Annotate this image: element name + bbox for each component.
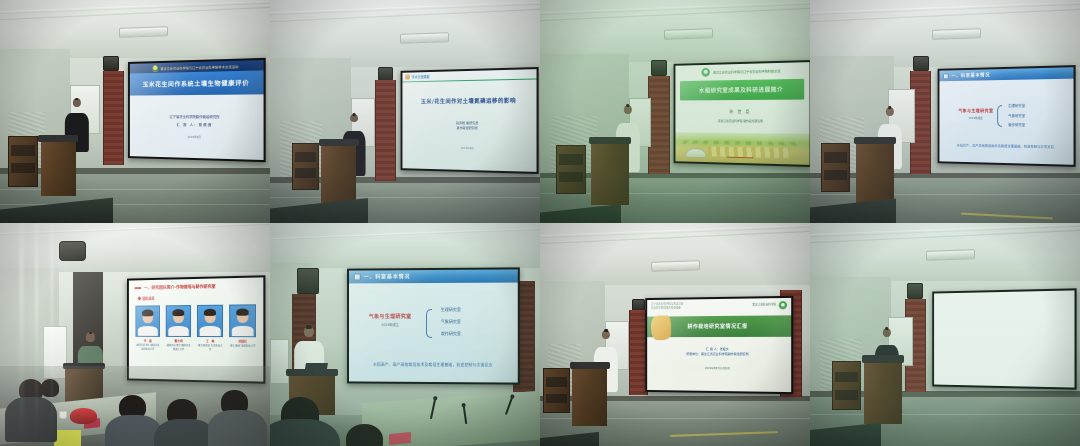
ceiling	[270, 223, 540, 268]
ceiling-speaker	[913, 56, 929, 72]
ceiling-beam	[270, 228, 540, 241]
slide-content: 黑龙江省农业科学院与辽宁省农业科学院科技交流 水稻研究室成果及科研进展简介 孙 …	[675, 63, 810, 165]
slide-presenter: 汇 报 人：蔡倩倩	[177, 123, 213, 128]
name-placard	[389, 432, 411, 445]
screen-glare	[934, 290, 1074, 387]
slide-date: 2019年8月5日 哈尔滨	[647, 365, 791, 370]
podium	[856, 138, 894, 205]
bullet-marker-icon	[405, 75, 410, 80]
slide-title: 玉米研究室	[934, 290, 1074, 293]
member-name: 李 磊	[136, 338, 161, 342]
meeting-room-scene: 黑龙江省农业科学院与辽宁省农业科学院科技交流 水稻研究室成果及科研进展简介 孙 …	[540, 0, 810, 223]
meeting-room-scene: 黑龙江省农业科学院与辽宁省农业科学院学术交流活动 玉米花生间作系统土壤生物健康评…	[0, 0, 270, 223]
water-cup	[59, 411, 67, 419]
slide-subheader: 团队成员	[138, 293, 264, 300]
side-cabinet	[543, 368, 570, 413]
leaf-emblem-icon	[778, 301, 786, 309]
team-member-card: 刘国红 博士/助研 沈阳农业大学	[230, 304, 257, 351]
laptop	[304, 363, 328, 374]
wood-acoustic-strip	[375, 80, 395, 180]
meeting-room-scene: 学术交流简报 玉米/花生间作对土壤氮磷运移的影响 赵凤艳 副研究员 耕作栽培研究…	[270, 0, 540, 223]
podium	[41, 136, 76, 196]
team-member-row: 李 磊 副研究员 博士/副研究员 沈阳农业大学 董大明 副研究员 博士/副研究员…	[129, 304, 264, 352]
member-detail: 博士/研究员 东北农业大学	[197, 344, 223, 351]
ceiling-light-fixture	[119, 26, 168, 38]
side-cabinet	[832, 361, 862, 410]
podium	[321, 140, 356, 202]
slide-title: 玉米花生间作系统土壤生物健康评价	[130, 71, 264, 96]
ceiling-speaker	[651, 60, 667, 76]
slide-header-text: 一、科室基本情况	[363, 273, 410, 280]
slide-content: 一、科室基本情况 气象与生理研究室 2019年成立 生理研究室 气象研究室	[349, 269, 518, 382]
farm-building-icon	[726, 153, 754, 158]
institute-emblem-icon	[152, 65, 159, 72]
subheader-text: 团队成员	[143, 295, 155, 300]
ceiling-light-fixture	[664, 28, 713, 40]
lens-flare	[51, 223, 53, 446]
list-item: 栽作研究室	[1008, 122, 1025, 127]
projection-screen: 一、科室基本情况 气象与生理研究室 2019年成立 生理研究室 气象研究室	[347, 267, 520, 384]
ceiling	[540, 223, 810, 285]
lens-flare	[35, 223, 38, 446]
member-headshot	[166, 305, 191, 337]
field-photo-graphic	[675, 133, 810, 165]
slide-content: 黑龙江省农业科学院与辽宁省农业科学院学术交流活动 玉米花生间作系统土壤生物健康评…	[130, 60, 264, 160]
slide-header: 一、研究团队简介-作物栽培与耕作研究室	[129, 277, 264, 291]
photo-panel-4[interactable]: 一、科室基本情况 气象与生理研究室 2019年成立 生理研究室 气象研究室	[810, 0, 1080, 223]
photo-panel-8[interactable]: 玉米研究室 汇报人：蔡 玉 进 单 位：玉米研究室 2019年8月5日	[810, 223, 1080, 446]
ceiling-projector	[59, 241, 86, 261]
leaf-emblem-icon	[701, 68, 710, 77]
slide-header-text: 黑龙江省农业科学院与辽宁省农业科学院学术交流活动	[161, 63, 239, 70]
side-cabinet	[8, 136, 38, 187]
member-headshot	[136, 305, 161, 336]
slide-presenter: 汇报人：蔡 玉 进 单 位：玉米研究室	[934, 290, 1074, 293]
slide-title: 水稻研究室成果及科研进展简介	[680, 79, 805, 101]
list-item: 栽作研究室	[440, 330, 460, 336]
whiteboard	[270, 339, 289, 384]
slide-content: 一、科室基本情况 气象与生理研究室 2019年成立 生理研究室 气象研究室	[940, 67, 1075, 165]
member-headshot	[230, 304, 257, 337]
photo-panel-6[interactable]: 一、科室基本情况 气象与生理研究室 2019年成立 生理研究室 气象研究室	[270, 223, 540, 446]
side-cabinet	[821, 143, 851, 192]
brace-bracket-icon	[425, 308, 431, 338]
highlight-text: 气象与生理研究室	[959, 108, 994, 113]
slide-content: 学术交流简报 玉米/花生间作对土壤氮磷运移的影响 赵凤艳 副研究员 耕作栽培研究…	[402, 69, 537, 171]
photo-panel-7[interactable]: 辽宁省农业科学院与黑龙江省 农业科学院科技合作交流会 黑龙江省农业科学院 耕作栽…	[540, 223, 810, 446]
member-detail: 博士/助研 沈阳农业大学	[230, 344, 257, 348]
audience-member-body	[208, 410, 267, 446]
highlight-subtext: 2019年成立	[368, 321, 411, 326]
slide-org-line: 黑龙江省农业科学院与辽宁省农业科学院科技交流	[675, 63, 810, 78]
photo-panel-1[interactable]: 黑龙江省农业科学院与辽宁省农业科学院学术交流活动 玉米花生间作系统土壤生物健康评…	[0, 0, 270, 223]
slide-header-text: 学术交流简报	[412, 74, 430, 79]
meeting-room-scene: 一、研究团队简介-作物栽培与耕作研究室 团队成员 李 磊 副研究员 博士/副研究…	[0, 223, 270, 446]
institute-emblem-icon	[969, 292, 979, 293]
title-card	[963, 291, 1041, 293]
ceiling-beam	[0, 223, 270, 236]
list-item: 生理研究室	[1008, 103, 1025, 108]
wall-speaker	[297, 268, 319, 295]
slide-body: 气象与生理研究室 2019年成立 生理研究室 气象研究室 栽作研究室 水稻高产、…	[349, 282, 518, 382]
lens-flare	[19, 223, 24, 446]
slide-item-list: 生理研究室 气象研究室 栽作研究室	[440, 306, 460, 336]
highlight-text: 气象与生理研究室	[368, 313, 411, 319]
slide-date: 2019年8月	[188, 135, 201, 139]
section-marker-icon	[353, 273, 360, 280]
fruit-plate	[70, 408, 97, 424]
slide-header-text: 一、科室基本情况	[952, 72, 991, 79]
projection-screen: 玉米研究室 汇报人：蔡 玉 进 单 位：玉米研究室 2019年8月5日	[932, 288, 1076, 390]
map-graphic	[651, 315, 670, 340]
wood-acoustic-strip	[648, 76, 670, 174]
member-detail: 副研究员 博士/副研究员 沈阳农业大学	[136, 343, 161, 350]
ceiling-speaker	[907, 283, 923, 299]
slide-header: 一、科室基本情况	[349, 269, 518, 283]
slide-org: 辽宁省农业科学院耕作栽培研究所	[170, 114, 220, 119]
meeting-room-scene: 一、科室基本情况 气象与生理研究室 2019年成立 生理研究室 气象研究室	[270, 223, 540, 446]
ceiling-light-fixture	[932, 28, 981, 40]
projection-screen: 学术交流简报 玉米/花生间作对土壤氮磷运移的影响 赵凤艳 副研究员 耕作栽培研究…	[400, 67, 538, 174]
slide-org-right: 黑龙江省农业科学院	[752, 303, 776, 307]
list-item: 气象研究室	[1008, 113, 1025, 118]
team-member-card: 王 梅 博士/研究员 东北农业大学	[197, 304, 223, 351]
audience-member-body	[5, 397, 56, 442]
slide-content: 玉米研究室 汇报人：蔡 玉 进 单 位：玉米研究室 2019年8月5日	[934, 290, 1074, 293]
presenter-affiliation: 耕作栽培研究所	[402, 126, 537, 132]
diamond-bullet-icon	[138, 296, 141, 299]
slide-meta: 辽宁省农业科学院耕作栽培研究所 汇 报 人：蔡倩倩 2019年8月	[130, 95, 264, 161]
tissue-box	[54, 430, 81, 446]
slide-header: 学术交流简报	[402, 69, 537, 82]
slide-highlight: 气象与生理研究室 2019年成立	[959, 108, 994, 120]
slide-date: 2019年8月	[402, 145, 537, 151]
ceiling-light-fixture	[926, 249, 975, 261]
podium	[864, 357, 902, 424]
member-name: 王 梅	[197, 339, 223, 343]
podium	[591, 138, 629, 205]
team-member-card: 李 磊 副研究员 博士/副研究员 沈阳农业大学	[136, 305, 161, 350]
slide-content: 辽宁省农业科学院与黑龙江省 农业科学院科技合作交流会 黑龙江省农业科学院 耕作栽…	[647, 297, 791, 369]
wood-acoustic-strip	[103, 71, 125, 165]
slide-footer: 水稻高产、高产高效栽培技术及栽培生理基础，抗逆控制与灾害反应	[947, 142, 1065, 149]
slide-presenter: 孙 世 臣	[675, 109, 810, 115]
brace-bracket-icon	[998, 105, 1003, 127]
slide-header: 辽宁省农业科学院与黑龙江省 农业科学院科技合作交流会 黑龙江省农业科学院	[647, 297, 791, 310]
side-cabinet	[292, 143, 319, 190]
member-headshot	[197, 304, 223, 336]
dash-marker-icon	[135, 287, 142, 288]
presenter-name: 汇报人：蔡 玉 进	[934, 290, 1074, 293]
meeting-room-scene: 辽宁省农业科学院与黑龙江省 农业科学院科技合作交流会 黑龙江省农业科学院 耕作栽…	[540, 223, 810, 446]
greenhouse-icon	[685, 148, 705, 158]
ceiling-speaker	[378, 67, 393, 81]
projection-screen: 黑龙江省农业科学院与辽宁省农业科学院学术交流活动 玉米花生间作系统土壤生物健康评…	[128, 58, 266, 163]
slide-org-text: 黑龙江省农业科学院与辽宁省农业科学院科技交流	[713, 68, 780, 75]
list-item: 气象研究室	[440, 318, 460, 324]
slide-highlight: 气象与生理研究室 2019年成立	[368, 312, 411, 326]
audience-member-body	[154, 419, 216, 446]
slide-affiliation: 黑龙江省农业科学院 耕作栽培研究所	[675, 119, 810, 124]
audience-member-head	[41, 379, 60, 397]
ceiling-speaker	[103, 56, 119, 72]
ceiling-light-fixture	[651, 260, 700, 272]
slide-presenter: 赵凤艳 副研究员 耕作栽培研究所	[402, 121, 537, 132]
corn-field-background	[934, 290, 1074, 293]
slide-org-left: 辽宁省农业科学院与黑龙江省 农业科学院科技合作交流会	[651, 302, 683, 310]
projection-screen: 一、科室基本情况 气象与生理研究室 2019年成立 生理研究室 气象研究室	[938, 65, 1076, 167]
photo-panel-5[interactable]: 一、研究团队简介-作物栽培与耕作研究室 团队成员 李 磊 副研究员 博士/副研究…	[0, 223, 270, 446]
slide-date: 2019年8月5日	[934, 290, 1074, 293]
presenter-affiliation: 所属单位：黑龙江省农业科学院耕作栽培研究所	[647, 352, 791, 358]
meeting-room-scene: 玉米研究室 汇报人：蔡 玉 进 单 位：玉米研究室 2019年8月5日	[810, 223, 1080, 446]
projection-screen: 辽宁省农业科学院与黑龙江省 农业科学院科技合作交流会 黑龙江省农业科学院 耕作栽…	[645, 295, 792, 393]
slide-title: 玉米/花生间作对土壤氮磷运移的影响	[402, 96, 537, 105]
photo-panel-3[interactable]: 黑龙江省农业科学院与辽宁省农业科学院科技交流 水稻研究室成果及科研进展简介 孙 …	[540, 0, 810, 223]
highlight-subtext: 2019年成立	[959, 116, 994, 120]
podium	[572, 363, 607, 425]
slide-body: 气象与生理研究室 2019年成立 生理研究室 气象研究室 栽作研究室 水稻高产、…	[940, 79, 1075, 165]
slide-footer: 水稻高产、高产高效栽培技术及栽培生理基础，抗逆控制与灾害反应	[359, 361, 507, 368]
slide-item-list: 生理研究室 气象研究室 栽作研究室	[1008, 103, 1025, 127]
list-item: 生理研究室	[440, 306, 460, 312]
member-detail: 副研究员 博士/副研究员 黑龙江大学	[166, 343, 191, 350]
slide-header-text: 一、研究团队简介-作物栽培与耕作研究室	[144, 283, 216, 290]
ceiling	[0, 223, 270, 272]
side-cabinet	[556, 145, 586, 194]
team-member-card: 董大明 副研究员 博士/副研究员 黑龙江大学	[166, 305, 191, 351]
projection-screen: 黑龙江省农业科学院与辽宁省农业科学院科技交流 水稻研究室成果及科研进展简介 孙 …	[673, 60, 810, 167]
photo-collage: 黑龙江省农业科学院与辽宁省农业科学院学术交流活动 玉米花生间作系统土壤生物健康评…	[0, 0, 1080, 446]
meeting-room-scene: 一、科室基本情况 气象与生理研究室 2019年成立 生理研究室 气象研究室	[810, 0, 1080, 223]
section-marker-icon	[943, 73, 949, 79]
slide-presenter: 汇 报 人：张殿文 所属单位：黑龙江省农业科学院耕作栽培研究所	[647, 347, 791, 358]
photo-panel-2[interactable]: 学术交流简报 玉米/花生间作对土壤氮磷运移的影响 赵凤艳 副研究员 耕作栽培研究…	[270, 0, 540, 223]
member-name: 董大明	[166, 338, 191, 342]
leaf-emblem-icon	[1025, 291, 1036, 293]
member-name: 刘国红	[230, 339, 257, 343]
